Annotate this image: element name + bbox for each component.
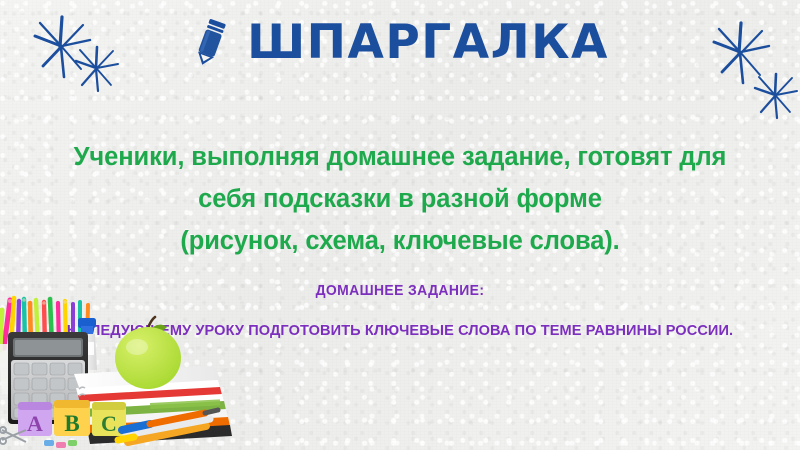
paper-clips	[44, 440, 77, 448]
slide-canvas: ШПАРГАЛКА Ученики, выполняя домашнее зад…	[0, 0, 800, 450]
block-b: B	[54, 400, 90, 436]
body-line-1: Ученики, выполняя домашнее задание, гото…	[10, 136, 790, 178]
title-row: ШПАРГАЛКА	[0, 6, 800, 78]
body-text: Ученики, выполняя домашнее задание, гото…	[10, 136, 790, 262]
body-line-2: себя подсказки в разной форме	[10, 178, 790, 220]
page-title: ШПАРГАЛКА	[247, 19, 609, 66]
school-supplies-photo: A B C	[0, 290, 258, 450]
svg-text:A: A	[27, 411, 43, 436]
green-apple	[115, 317, 181, 389]
sparkle-top-right-small	[753, 72, 799, 120]
pencil-icon	[191, 16, 229, 68]
svg-text:C: C	[101, 411, 117, 436]
abc-blocks: A B C	[18, 400, 126, 436]
body-line-3: (рисунок, схема, ключевые слова).	[10, 220, 790, 262]
svg-text:B: B	[64, 411, 79, 436]
